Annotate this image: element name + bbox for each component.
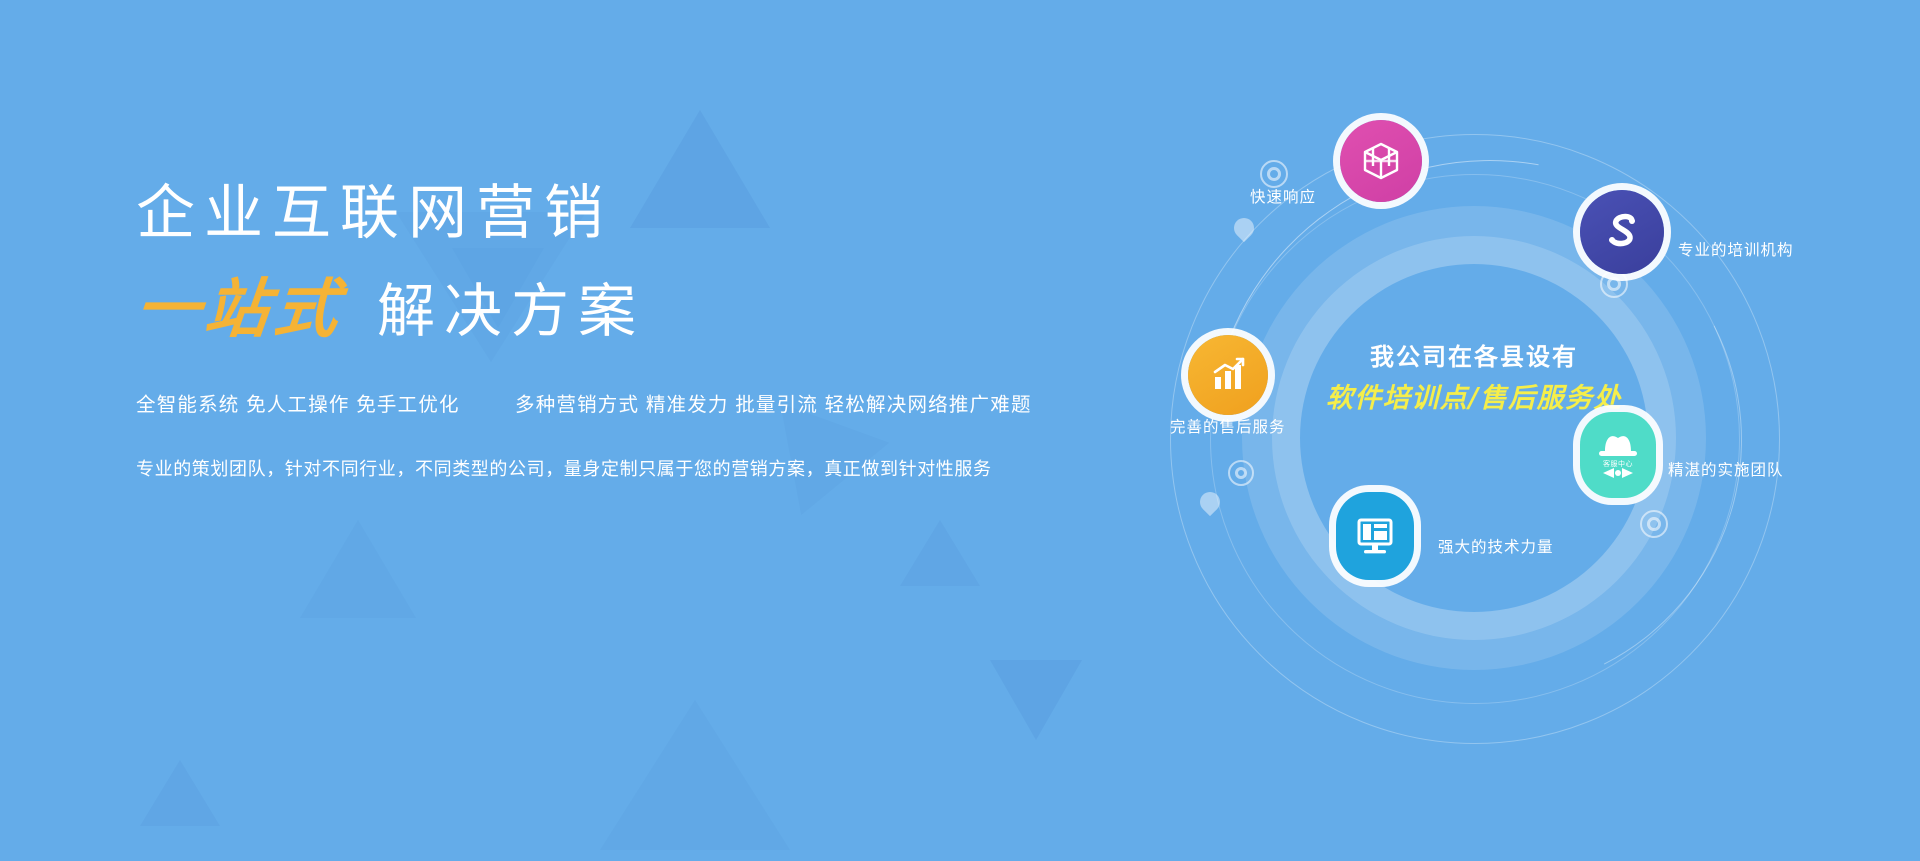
feature-group-1: 全智能系统 免人工操作 免手工优化 [136, 394, 460, 416]
node-training-institution[interactable] [1580, 190, 1664, 274]
center-line-1: 我公司在各县设有 [1300, 340, 1648, 374]
copy-block: 企业互联网营销 一站式 解决方案 全智能系统 免人工操作 免手工优化 多种营销方… [136, 180, 1056, 481]
hat-icon: 客服中心 [1592, 427, 1644, 483]
description-text: 专业的策划团队，针对不同行业，不同类型的公司，量身定制只属于您的营销方案，真正做… [136, 455, 1056, 481]
marketing-banner: 企业互联网营销 一站式 解决方案 全智能系统 免人工操作 免手工优化 多种营销方… [0, 0, 1920, 861]
swirl-s-icon [1599, 209, 1645, 255]
monitor-icon [1350, 510, 1400, 562]
cube-icon [1359, 139, 1403, 183]
decor-triangle [300, 520, 416, 618]
center-message: 我公司在各县设有 软件培训点/售后服务处 [1300, 340, 1648, 418]
headline-rest: 解决方案 [377, 280, 645, 344]
target-icon [1640, 510, 1668, 538]
node-implementation-team[interactable]: 客服中心 [1580, 412, 1656, 498]
node-technical-power[interactable] [1336, 492, 1414, 580]
feature-list: 全智能系统 免人工操作 免手工优化 多种营销方式 精准发力 批量引流 轻松解决网… [136, 388, 1056, 417]
orbit-graphic: 我公司在各县设有 软件培训点/售后服务处 快速响应 [1060, 60, 1920, 800]
page-title: 企业互联网营销 [136, 180, 1056, 248]
chart-icon [1206, 353, 1250, 397]
headline-accent: 一站式 [132, 274, 346, 344]
decor-triangle [140, 760, 220, 826]
node-after-sales-service[interactable] [1188, 335, 1268, 415]
svg-text:客服中心: 客服中心 [1603, 459, 1633, 468]
node-label-technical-power: 强大的技术力量 [1438, 535, 1554, 557]
node-label-training-institution: 专业的培训机构 [1678, 238, 1794, 260]
decor-triangle [600, 700, 790, 850]
target-icon [1260, 160, 1288, 188]
feature-group-2: 多种营销方式 精准发力 批量引流 轻松解决网络推广难题 [515, 394, 1032, 416]
target-icon [1600, 270, 1628, 298]
node-fast-response[interactable] [1340, 120, 1422, 202]
target-icon [1228, 460, 1254, 486]
node-label-after-sales-service: 完善的售后服务 [1170, 415, 1286, 437]
headline-secondary: 一站式 解决方案 [136, 274, 1056, 344]
node-label-fast-response: 快速响应 [1250, 185, 1316, 207]
decor-triangle [900, 520, 980, 586]
node-label-implementation-team: 精湛的实施团队 [1668, 458, 1784, 480]
center-line-2: 软件培训点/售后服务处 [1300, 380, 1648, 418]
